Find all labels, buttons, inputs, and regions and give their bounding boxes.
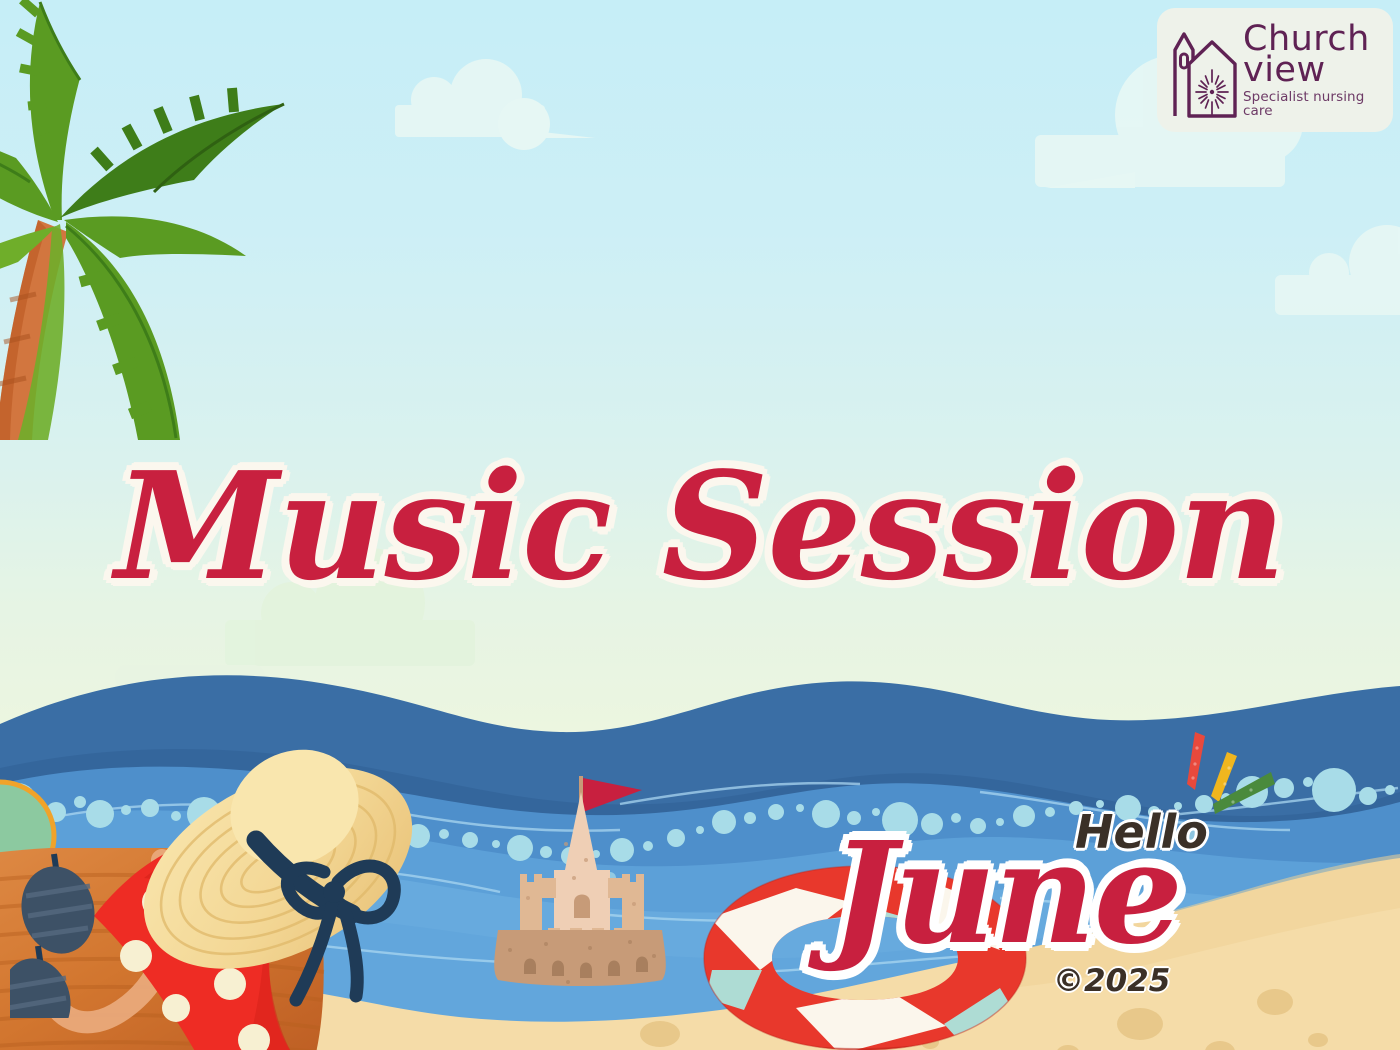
copyright-label: ©2025: [1053, 963, 1170, 999]
sandcastle-base: [490, 930, 670, 1000]
palm-tree-icon: [0, 0, 290, 440]
logo-text-block: Church view Specialist nursing care: [1243, 22, 1393, 118]
page-title: Music Session: [0, 452, 1400, 600]
cloud-icon: [225, 620, 475, 666]
logo-line-view: view: [1243, 53, 1393, 88]
greeting-label: Hello: [1075, 805, 1208, 859]
church-starburst-icon: [1167, 20, 1241, 120]
straw-hat-icon: [128, 748, 428, 1013]
logo-tagline: Specialist nursing care: [1243, 91, 1393, 118]
churchview-logo: Church view Specialist nursing care: [1157, 8, 1393, 132]
poster-canvas: Music Session June Hello ©2025: [0, 0, 1400, 1050]
red-flag-icon: [583, 778, 642, 812]
cloud-puff-icon: [498, 98, 550, 150]
cloud-icon: [1275, 275, 1400, 315]
cloud-icon: [1035, 135, 1285, 187]
